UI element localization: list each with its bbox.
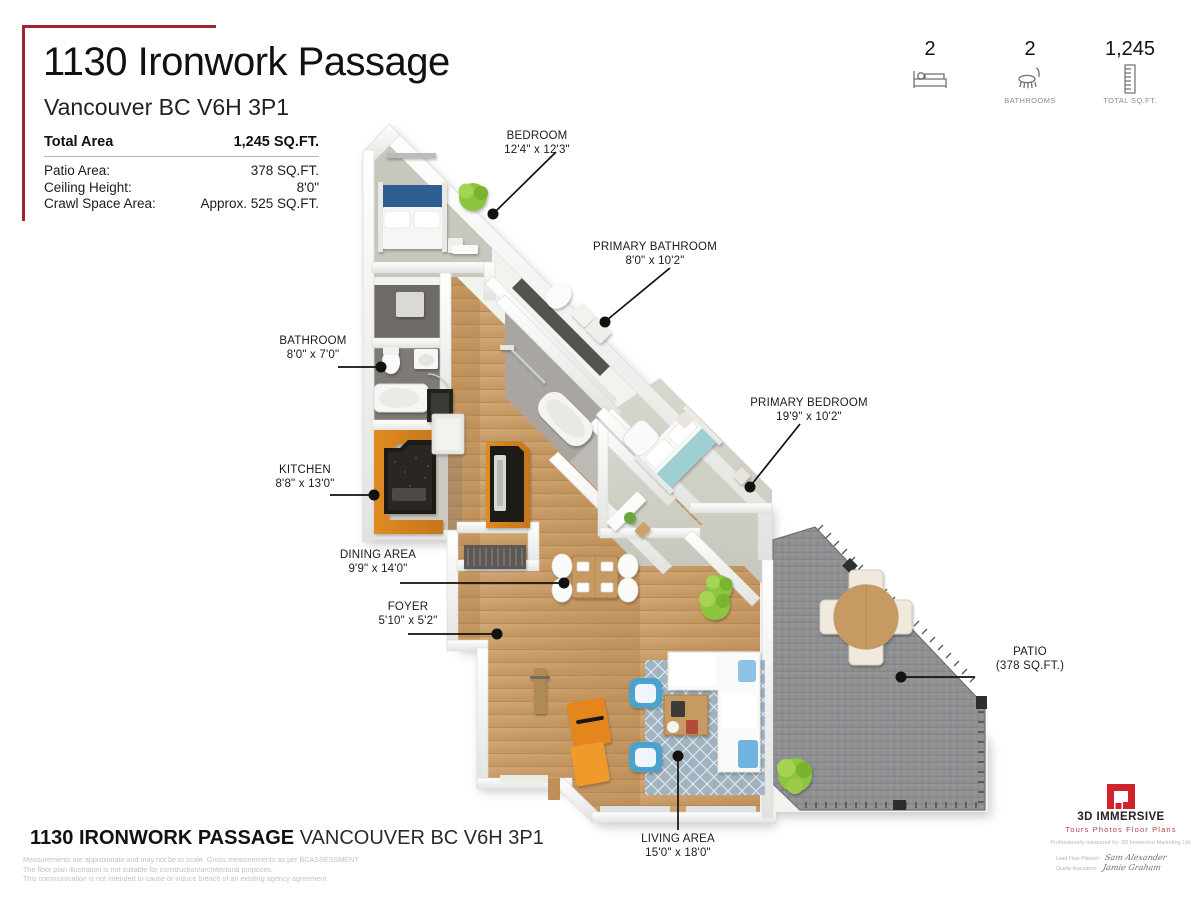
total-sqft-caption: TOTAL SQ.FT. bbox=[1080, 96, 1180, 105]
primary-bath-vanity-wall bbox=[512, 270, 618, 376]
total-area-row: Total Area 1,245 SQ.FT. bbox=[44, 134, 319, 150]
page-title: 1130 Ironwork Passage bbox=[43, 40, 450, 85]
total-sqft-count: 1,245 bbox=[1080, 38, 1180, 60]
signature-role: Quality Assurance: bbox=[1056, 866, 1098, 872]
bed-icon bbox=[880, 63, 980, 95]
room-name: BATHROOM bbox=[228, 334, 398, 348]
stat-bathrooms: 2 BATHROOMS bbox=[980, 38, 1080, 105]
room-name: PRIMARY BATHROOM bbox=[560, 240, 750, 254]
callout-foyer: FOYER 5'10" x 5'2" bbox=[313, 600, 503, 628]
room-dims: 8'0" x 10'2" bbox=[560, 254, 750, 268]
measured-by: Professionally measured by: 3D Immersive… bbox=[1050, 839, 1192, 847]
spec-row: Crawl Space Area: Approx. 525 SQ.FT. bbox=[44, 196, 319, 213]
spec-label: Ceiling Height: bbox=[44, 180, 132, 197]
living-rug bbox=[645, 660, 765, 795]
spec-label: Patio Area: bbox=[44, 163, 110, 180]
living-furniture bbox=[530, 590, 765, 812]
disclaimer-line: The floor plan illustration is not suita… bbox=[23, 865, 359, 875]
callout-primary-bedroom: PRIMARY BEDROOM 19'9" x 10'2" bbox=[714, 396, 904, 424]
patio-area bbox=[773, 525, 987, 810]
ruler-icon bbox=[1080, 63, 1180, 95]
shower-icon bbox=[980, 63, 1080, 95]
room-name: BEDROOM bbox=[452, 129, 622, 143]
primary-bedroom-floor bbox=[605, 430, 762, 566]
room-name: PATIO bbox=[965, 645, 1095, 659]
callout-patio: PATIO (378 SQ.FT.) bbox=[965, 645, 1095, 673]
signature-row: Quality Assurance: Jamie Graham bbox=[1056, 862, 1192, 872]
signature-role: Lead Floor Planner: bbox=[1056, 856, 1100, 862]
room-dims: 15'0" x 18'0" bbox=[588, 846, 768, 860]
spec-value: 8'0" bbox=[297, 180, 319, 197]
spec-row: Ceiling Height: 8'0" bbox=[44, 180, 319, 197]
callout-bathroom: BATHROOM 8'0" x 7'0" bbox=[228, 334, 398, 362]
header-divider bbox=[44, 156, 319, 157]
room-name: LIVING AREA bbox=[588, 832, 768, 846]
dining-set bbox=[464, 545, 638, 602]
signature-block: Lead Floor Planner: Sam Alexander Qualit… bbox=[1050, 852, 1192, 872]
spec-value: Approx. 525 SQ.FT. bbox=[200, 196, 319, 213]
footer-address: 1130 IRONWORK PASSAGE VANCOUVER BC V6H 3… bbox=[30, 827, 544, 850]
footer-address-light: VANCOUVER BC V6H 3P1 bbox=[294, 827, 544, 849]
room-dims: 8'8" x 13'0" bbox=[220, 477, 390, 491]
disclaimer-line: This communication is not intended to ca… bbox=[23, 874, 359, 884]
signature-row: Lead Floor Planner: Sam Alexander bbox=[1056, 852, 1192, 862]
bedrooms-count: 2 bbox=[880, 38, 980, 60]
room-name: FOYER bbox=[313, 600, 503, 614]
room-dims: 8'0" x 7'0" bbox=[228, 348, 398, 362]
callout-kitchen: KITCHEN 8'8" x 13'0" bbox=[220, 463, 390, 491]
room-dims: 12'4" x 12'3" bbox=[452, 143, 622, 157]
foyer-detail bbox=[500, 775, 560, 800]
callout-bedroom: BEDROOM 12'4" x 12'3" bbox=[452, 129, 622, 157]
room-name: PRIMARY BEDROOM bbox=[714, 396, 904, 410]
kitchen-cabinets bbox=[374, 414, 530, 534]
spec-value: 378 SQ.FT. bbox=[251, 163, 319, 180]
bathrooms-caption: BATHROOMS bbox=[980, 96, 1080, 105]
spec-label: Crawl Space Area: bbox=[44, 196, 156, 213]
building-shell bbox=[363, 124, 988, 822]
stat-total-sqft: 1,245 TOTAL SQ.FT. bbox=[1080, 38, 1180, 105]
bathrooms-count: 2 bbox=[980, 38, 1080, 60]
property-stats: 2 2 BATHROOMS bbox=[880, 38, 1180, 105]
patio-plant bbox=[777, 758, 812, 794]
page-subtitle: Vancouver BC V6H 3P1 bbox=[44, 94, 289, 121]
accent-bracket-horizontal bbox=[22, 25, 216, 28]
immersive-logo-icon bbox=[1107, 784, 1135, 809]
brand-tagline: Tours Photos Floor Plans bbox=[1050, 824, 1192, 835]
closet-floor bbox=[372, 285, 444, 340]
bedroom-furniture bbox=[378, 153, 488, 254]
room-name: KITCHEN bbox=[220, 463, 390, 477]
brand-block: 3D IMMERSIVE Tours Photos Floor Plans Pr… bbox=[1050, 784, 1192, 872]
callout-primary-bathroom: PRIMARY BATHROOM 8'0" x 10'2" bbox=[560, 240, 750, 268]
callout-living-area: LIVING AREA 15'0" x 18'0" bbox=[588, 832, 768, 860]
total-area-value: 1,245 SQ.FT. bbox=[234, 134, 319, 150]
room-name: DINING AREA bbox=[283, 548, 473, 562]
signature-name: Jamie Graham bbox=[1102, 863, 1162, 872]
stat-bedrooms: 2 bbox=[880, 38, 980, 105]
primary-bathroom-fixtures bbox=[500, 278, 612, 451]
room-dims: 19'9" x 10'2" bbox=[714, 410, 904, 424]
footer-address-bold: 1130 IRONWORK PASSAGE bbox=[30, 827, 294, 849]
callout-dining-area: DINING AREA 9'9" x 14'0" bbox=[283, 548, 473, 576]
primary-bedroom-furniture bbox=[606, 405, 751, 601]
walls bbox=[363, 124, 776, 823]
disclaimer: Measurements are approximate and may not… bbox=[23, 855, 359, 884]
spec-list: Patio Area: 378 SQ.FT. Ceiling Height: 8… bbox=[44, 163, 319, 213]
spec-row: Patio Area: 378 SQ.FT. bbox=[44, 163, 319, 180]
total-area-label: Total Area bbox=[44, 134, 113, 150]
room-dims: 9'9" x 14'0" bbox=[283, 562, 473, 576]
floor-plan-page: 1130 Ironwork Passage Vancouver BC V6H 3… bbox=[0, 0, 1200, 900]
primary-bath-tub-zone bbox=[570, 413, 662, 506]
brand-name: 3D IMMERSIVE bbox=[1050, 811, 1192, 824]
disclaimer-line: Measurements are approximate and may not… bbox=[23, 855, 359, 865]
room-dims: (378 SQ.FT.) bbox=[965, 659, 1095, 673]
patio-table-set bbox=[820, 570, 912, 665]
room-dims: 5'10" x 5'2" bbox=[313, 614, 503, 628]
bedroom-floor bbox=[372, 143, 492, 277]
wood-floor bbox=[372, 268, 762, 812]
primary-bathroom-floor bbox=[505, 300, 618, 462]
signature-name: Sam Alexander bbox=[1104, 853, 1167, 862]
accent-bracket-vertical bbox=[22, 25, 25, 221]
